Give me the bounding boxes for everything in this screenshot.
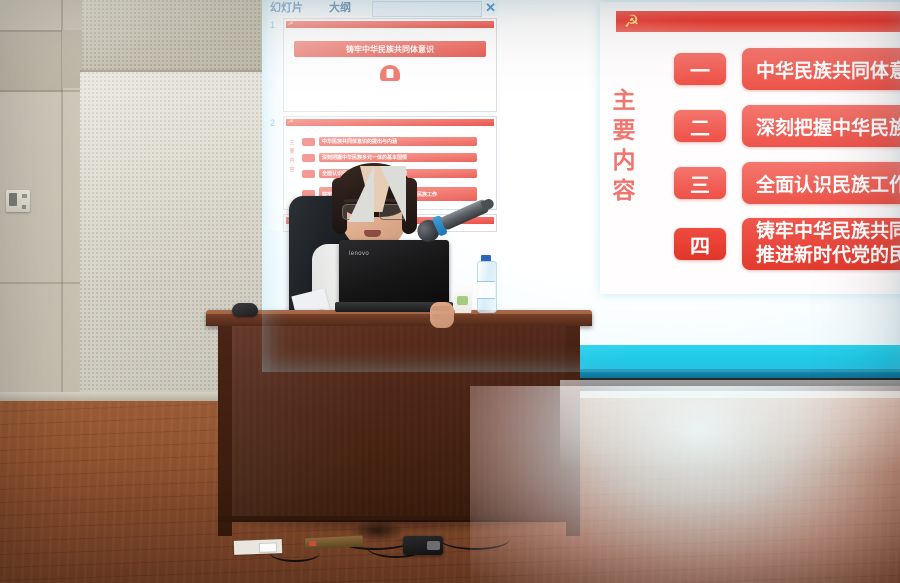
speaker-finger-2 [432, 314, 450, 319]
projected-slide-number-3: 三 [674, 167, 726, 199]
wall-control-panel-switch[interactable] [6, 190, 30, 212]
thumbnail-2-emblem-icon: ☭ [288, 119, 293, 126]
projected-slide-number-4: 四 [674, 228, 726, 260]
tab-outline[interactable]: 大纲 [329, 0, 351, 16]
screenshot-root: ☭ 主要内容 一 中华民族共同体意识的提出与内涵 二 深刻把握中华民族多元一体的… [0, 0, 900, 583]
floor-paper-card [259, 542, 277, 553]
acoustic-panel-top-shading [82, 0, 264, 72]
lab-coat-lapel-left [348, 166, 374, 222]
lenovo-laptop[interactable]: lenovo [339, 240, 449, 312]
projected-slide-number-2: 二 [674, 110, 726, 142]
projected-slide-text-1: 中华民族共同体意识的提出与内涵 [742, 48, 900, 90]
switch-led-icon [22, 194, 27, 198]
projected-slide-text-4-line1: 铸牢中华民族共同体意识 [756, 220, 900, 244]
floor-paper [234, 539, 282, 555]
cpc-emblem-icon: ☭ [624, 13, 644, 30]
thumbnail-1-banner [286, 21, 494, 28]
wall-block-upper [0, 30, 62, 92]
projected-slide-row-1: 一 中华民族共同体意识的提出与内涵 [674, 48, 900, 90]
close-icon[interactable]: ✕ [485, 0, 496, 16]
thumbnail-2-row-1: 中华民族共同体意识的提出与内涵 [302, 137, 477, 146]
thumbnail-2-num-2 [302, 154, 315, 162]
speaker-finger-1 [432, 306, 450, 311]
desk-sheen [218, 326, 580, 520]
thumbnail-2-row-2: 深刻把握中华民族多元一体的基本国情 [302, 153, 477, 162]
projected-slide-row-3: 三 全面认识民族工作面临的新形势新挑战 [674, 162, 900, 204]
projected-slide-text-4: 铸牢中华民族共同体意识 推进新时代党的民族工作高质量发展 [742, 218, 900, 270]
bottle-label [477, 281, 495, 299]
slide-thumbnail-1[interactable]: ☭ 铸牢中华民族共同体意识 [283, 18, 497, 112]
wall-seam-h2 [0, 90, 92, 92]
speaker-mouth [364, 230, 381, 237]
powerpoint-tab-bar: 幻灯片 大纲 ✕ [267, 0, 499, 16]
wall-seam-h3 [0, 282, 92, 284]
thumbnail-1-badge-icon [380, 65, 400, 81]
power-adapter [403, 536, 443, 555]
projected-slide-text-2: 深刻把握中华民族多元一体的基本国情 [742, 105, 900, 147]
thumbnail-2-text-1: 中华民族共同体意识的提出与内涵 [319, 137, 477, 146]
adapter-label-icon [427, 541, 440, 550]
desk-leg-right [566, 326, 580, 536]
floor-cable-3 [440, 528, 510, 550]
computer-mouse[interactable] [232, 303, 258, 317]
tab-slides[interactable]: 幻灯片 [270, 0, 303, 16]
switch-button-icon [22, 205, 26, 209]
projected-slide-number-1: 一 [674, 53, 726, 85]
switch-display-icon [9, 193, 17, 206]
paper-cup-print [457, 296, 468, 305]
thumbnail-1-emblem-icon: ☭ [288, 21, 293, 28]
projected-slide-text-4-line2: 推进新时代党的民族工作高质量发展 [756, 244, 900, 268]
slide-number-1: 1 [270, 20, 275, 30]
laptop-brand-label: lenovo [349, 251, 369, 257]
thumbnail-2-banner [286, 119, 494, 126]
thumbnail-2-side-title: 主要内容 [288, 139, 296, 175]
tab-bar-filler [372, 1, 482, 17]
thumbnail-2-num-1 [302, 138, 315, 146]
projected-slide-banner [616, 11, 900, 32]
projected-slide-side-title: 主要内容 [611, 85, 637, 205]
desk-leg-left [218, 326, 232, 536]
slide-number-2: 2 [270, 118, 275, 128]
projected-slide-row-4: 四 铸牢中华民族共同体意识 推进新时代党的民族工作高质量发展 [674, 218, 900, 270]
power-strip-led-icon [309, 541, 316, 546]
panel-seam [80, 70, 264, 72]
projected-slide-row-2: 二 深刻把握中华民族多元一体的基本国情 [674, 105, 900, 147]
water-bottle [477, 255, 495, 311]
projected-slide-text-3: 全面认识民族工作面临的新形势新挑战 [742, 162, 900, 204]
thumbnail-1-title: 铸牢中华民族共同体意识 [294, 41, 486, 57]
thumbnail-2-text-2: 深刻把握中华民族多元一体的基本国情 [319, 153, 477, 162]
lab-coat-lapel-right [380, 166, 406, 222]
